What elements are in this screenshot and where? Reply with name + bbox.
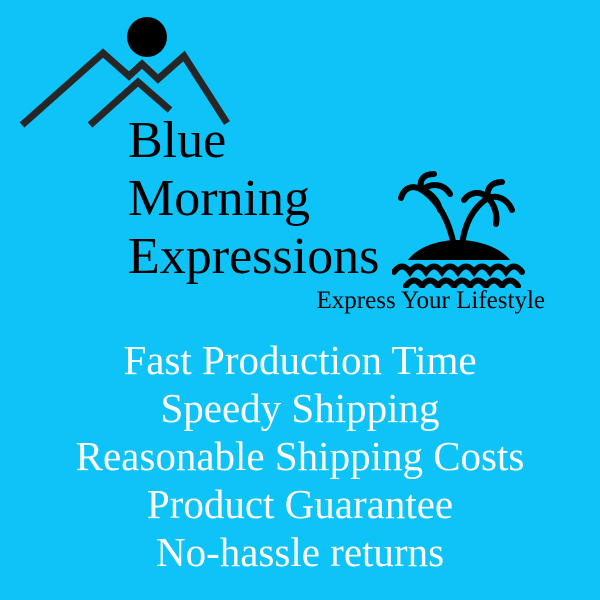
brand-line-1: Blue: [128, 112, 548, 170]
benefit-line-2: Speedy Shipping: [0, 384, 600, 432]
benefit-line-1: Fast Production Time: [0, 336, 600, 384]
benefit-line-5: No-hassle returns: [0, 528, 600, 576]
benefit-line-3: Reasonable Shipping Costs: [0, 432, 600, 480]
brand-wordmark: Blue Morning Expressions: [128, 112, 548, 286]
sun-circle-icon: [127, 17, 167, 57]
benefits-list: Fast Production Time Speedy Shipping Rea…: [0, 336, 600, 576]
brand-tagline: Express Your Lifestyle: [0, 286, 545, 316]
brand-line-3: Expressions: [128, 228, 548, 286]
brand-line-2: Morning: [128, 170, 548, 228]
promo-poster: Blue Morning Expressions Express Your Li…: [0, 0, 600, 600]
benefit-line-4: Product Guarantee: [0, 480, 600, 528]
